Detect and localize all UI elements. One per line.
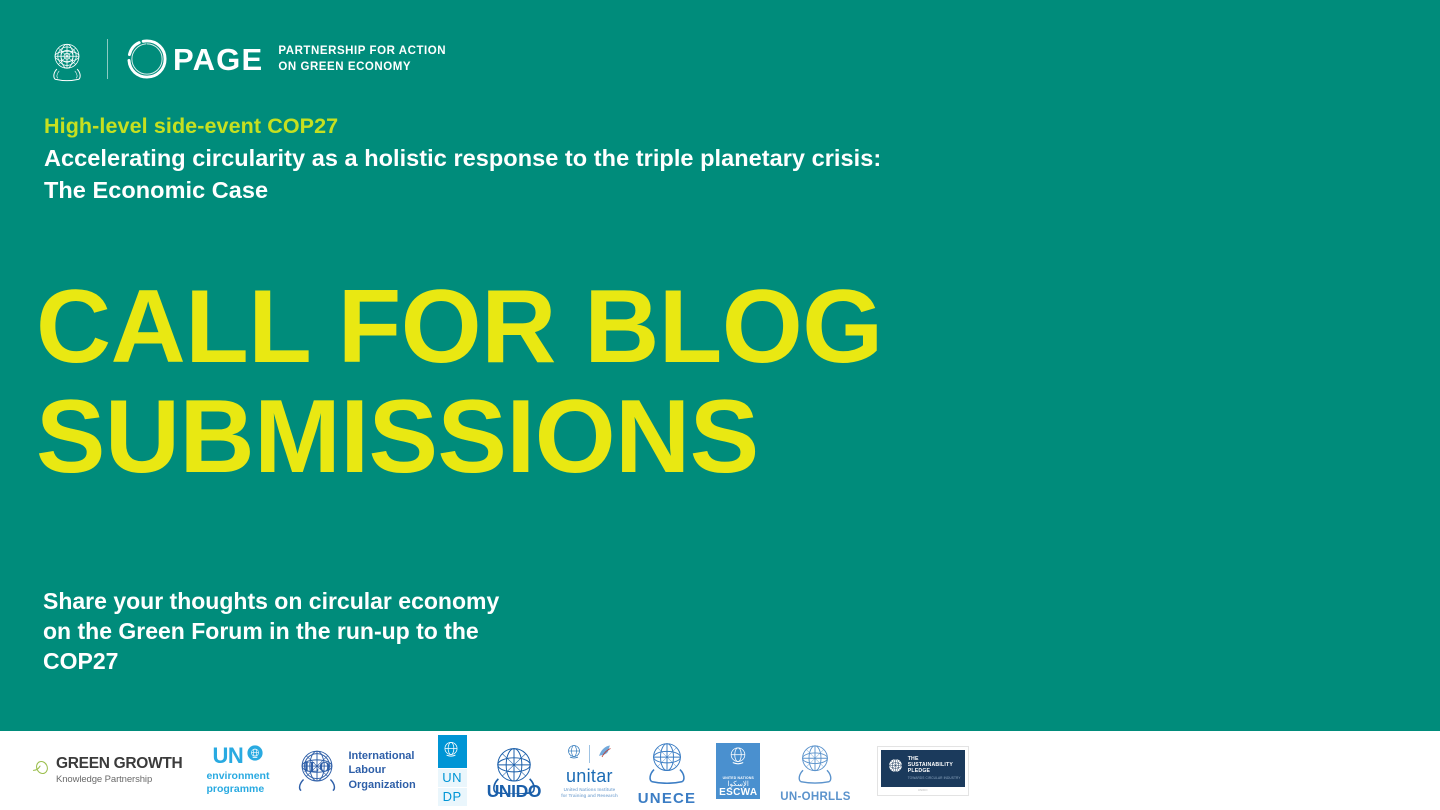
- event-heading-block: High-level side-event COP27 Accelerating…: [44, 112, 1164, 206]
- slide-canvas: PAGE PARTNERSHIP FOR ACTION ON GREEN ECO…: [0, 0, 1440, 810]
- brand-name: PAGE: [173, 44, 263, 75]
- escwa-emblem-icon: [725, 743, 751, 774]
- page-ring-icon: [126, 38, 168, 80]
- pledge-title-line3: PLEDGE: [908, 768, 961, 774]
- brand-lockup: PAGE PARTNERSHIP FOR ACTION ON GREEN ECO…: [44, 33, 446, 85]
- ilo-name-line1: International: [348, 749, 415, 763]
- unitar-emblem-group: [564, 742, 615, 767]
- logo-unitar: unitar United Nations Institute for Trai…: [561, 742, 618, 799]
- event-title-line1: Accelerating circularity as a holistic r…: [44, 143, 1164, 175]
- cta-line-2: on the Green Forum in the run-up to the: [43, 618, 479, 644]
- un-emblem-icon: [44, 36, 90, 82]
- logo-sustainability-pledge: THE SUSTAINABILITY PLEDGE TOWARDS CIRCUL…: [877, 746, 969, 796]
- unitar-un-emblem-icon: [564, 742, 584, 767]
- undp-letters-dp: DP: [438, 787, 467, 806]
- call-to-action-text: Share your thoughts on circular economy …: [43, 587, 683, 677]
- escwa-tiny-text: UNITED NATIONS: [723, 776, 754, 780]
- logo-undp: UN DP: [438, 735, 467, 807]
- page-title: CALL FOR BLOG SUBMISSIONS: [36, 272, 1136, 492]
- cta-line-3: COP27: [43, 648, 118, 674]
- logo-unido: UNIDO: [487, 740, 541, 801]
- escwa-badge: UNITED NATIONS الإسكوا ESCWA: [716, 743, 760, 799]
- logo-un-ohrlls: UN-OHRLLS: [780, 738, 850, 804]
- event-kicker: High-level side-event COP27: [44, 112, 1164, 141]
- unep-subtitle: environment programme: [206, 770, 269, 796]
- unitar-bird-icon: [595, 742, 615, 767]
- unep-wordmark: UN: [213, 745, 264, 767]
- pledge-globe-icon: [887, 757, 904, 779]
- brand-tagline: PARTNERSHIP FOR ACTION ON GREEN ECONOMY: [278, 43, 446, 74]
- pledge-text-block: THE SUSTAINABILITY PLEDGE TOWARDS CIRCUL…: [908, 756, 961, 781]
- brand-tagline-line1: PARTNERSHIP FOR ACTION: [278, 44, 446, 59]
- pledge-card: THE SUSTAINABILITY PLEDGE TOWARDS CIRCUL…: [881, 750, 965, 787]
- unep-subtitle-line1: environment: [206, 770, 269, 783]
- ohrlls-emblem-icon: [792, 738, 838, 789]
- unido-wordmark: UNIDO: [487, 783, 541, 801]
- partner-logo-bar: GREEN GROWTH Knowledge Partnership UN: [0, 731, 1440, 810]
- pledge-footnote: UNIDO: [881, 787, 965, 792]
- unep-globe-icon: [247, 745, 263, 766]
- cta-line-1: Share your thoughts on circular economy: [43, 588, 499, 614]
- brand-divider: [107, 39, 108, 79]
- logo-un-escwa: UNITED NATIONS الإسكوا ESCWA: [716, 743, 760, 799]
- ilo-name-line3: Organization: [348, 778, 415, 792]
- pledge-frame: THE SUSTAINABILITY PLEDGE TOWARDS CIRCUL…: [877, 746, 969, 796]
- unitar-subtitle: United Nations Institute for Training an…: [561, 787, 618, 799]
- logo-unece: UNECE: [638, 736, 697, 806]
- unitar-subtitle-line2: for Training and Research: [561, 793, 618, 799]
- undp-emblem-icon: [438, 735, 467, 768]
- ggkp-name: GREEN GROWTH: [56, 756, 182, 772]
- ilo-name-line2: Labour: [348, 763, 415, 777]
- logo-un-environment-programme: UN environment programme: [206, 745, 269, 796]
- undp-letters-un: UN: [438, 768, 467, 787]
- escwa-wordmark: ESCWA: [719, 788, 757, 798]
- pledge-subtitle: TOWARDS CIRCULAR INDUSTRY: [908, 776, 961, 780]
- unep-un-text: UN: [213, 745, 244, 767]
- event-title-line2: The Economic Case: [44, 175, 1164, 207]
- undp-stack: UN DP: [438, 735, 467, 807]
- ohrlls-wordmark: UN-OHRLLS: [780, 792, 850, 804]
- logo-international-labour-organization: ILO International Labour Organization: [293, 744, 415, 797]
- ggkp-subtitle: Knowledge Partnership: [56, 774, 182, 785]
- unece-emblem-icon: [643, 736, 691, 789]
- unitar-wordmark: unitar: [566, 767, 613, 785]
- ilo-name: International Labour Organization: [348, 749, 415, 792]
- unep-subtitle-line2: programme: [206, 783, 269, 796]
- hero-line-1: CALL FOR BLOG: [36, 272, 1136, 382]
- svg-text:ILO: ILO: [304, 759, 330, 775]
- unitar-divider: [589, 745, 590, 763]
- ilo-emblem-icon: ILO: [293, 744, 341, 797]
- hero-line-2: SUBMISSIONS: [36, 382, 1136, 492]
- unece-wordmark: UNECE: [638, 791, 697, 806]
- logo-green-growth-knowledge-partnership: GREEN GROWTH Knowledge Partnership: [32, 756, 182, 785]
- leaf-icon: [32, 758, 51, 782]
- brand-tagline-line2: ON GREEN ECONOMY: [278, 60, 446, 75]
